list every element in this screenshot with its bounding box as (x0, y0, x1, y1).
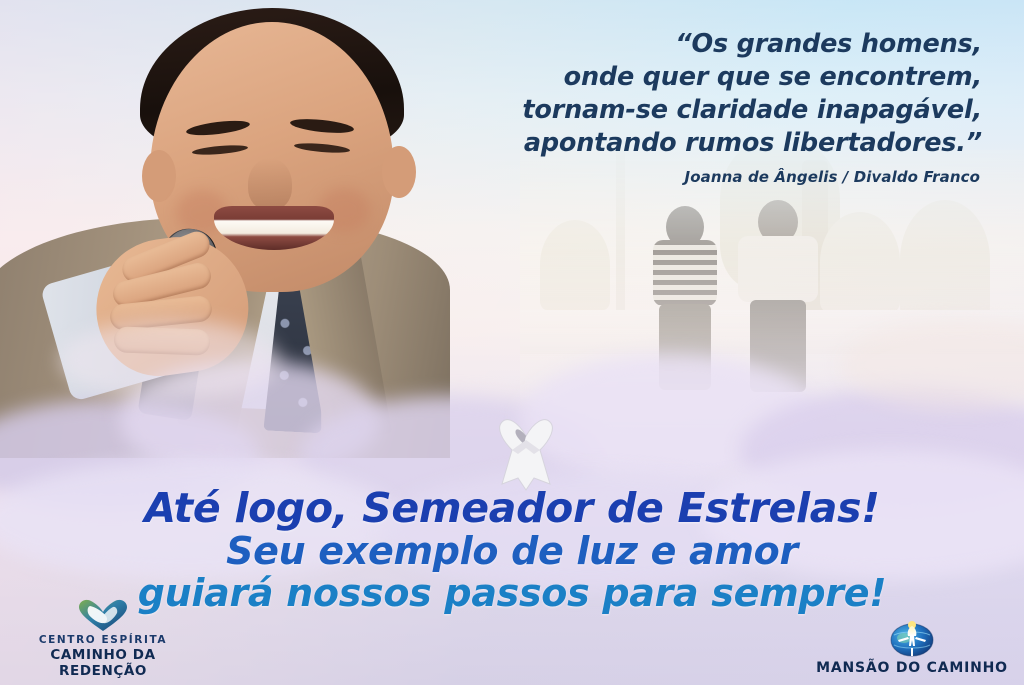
scene-person-left (650, 206, 720, 386)
headline-line-1: Até logo, Semeador de Estrelas! (0, 486, 1024, 530)
finger-4 (114, 326, 211, 355)
mourning-ribbon-icon (488, 410, 564, 492)
hands-heart-icon (77, 598, 129, 632)
ear-right (382, 146, 416, 198)
logo-mansao-do-caminho: MANSÃO DO CAMINHO (812, 618, 1012, 677)
nose (248, 158, 292, 210)
headline-line-2: Seu exemplo de luz e amor (0, 530, 1024, 572)
logo-right-line-1: MANSÃO DO CAMINHO (812, 660, 1012, 677)
headline-block: Até logo, Semeador de Estrelas! Seu exem… (0, 486, 1024, 614)
memorial-poster: “Os grandes homens, onde quer que se enc… (0, 0, 1024, 685)
quote-line-1: “Os grandes homens, (442, 28, 982, 61)
ear-left (142, 150, 176, 202)
quote-text: “Os grandes homens, onde quer que se enc… (442, 28, 982, 160)
logo-centro-espirita: CENTRO ESPÍRITA CAMINHO DA REDENÇÃO (8, 598, 198, 679)
quote-line-3: tornam-se claridade inapagável, (442, 94, 982, 127)
logo-left-line-1: CENTRO ESPÍRITA (8, 634, 198, 647)
quote-line-4: apontando rumos libertadores.” (442, 127, 982, 160)
globe-figure-icon (888, 618, 936, 658)
scene-person-right (738, 200, 818, 390)
quote-line-2: onde quer que se encontrem, (442, 61, 982, 94)
logo-left-line-2: CAMINHO DA REDENÇÃO (8, 647, 198, 679)
background-scene-photo (520, 150, 1024, 440)
quote-attribution: Joanna de Ângelis / Divaldo Franco (440, 168, 980, 186)
